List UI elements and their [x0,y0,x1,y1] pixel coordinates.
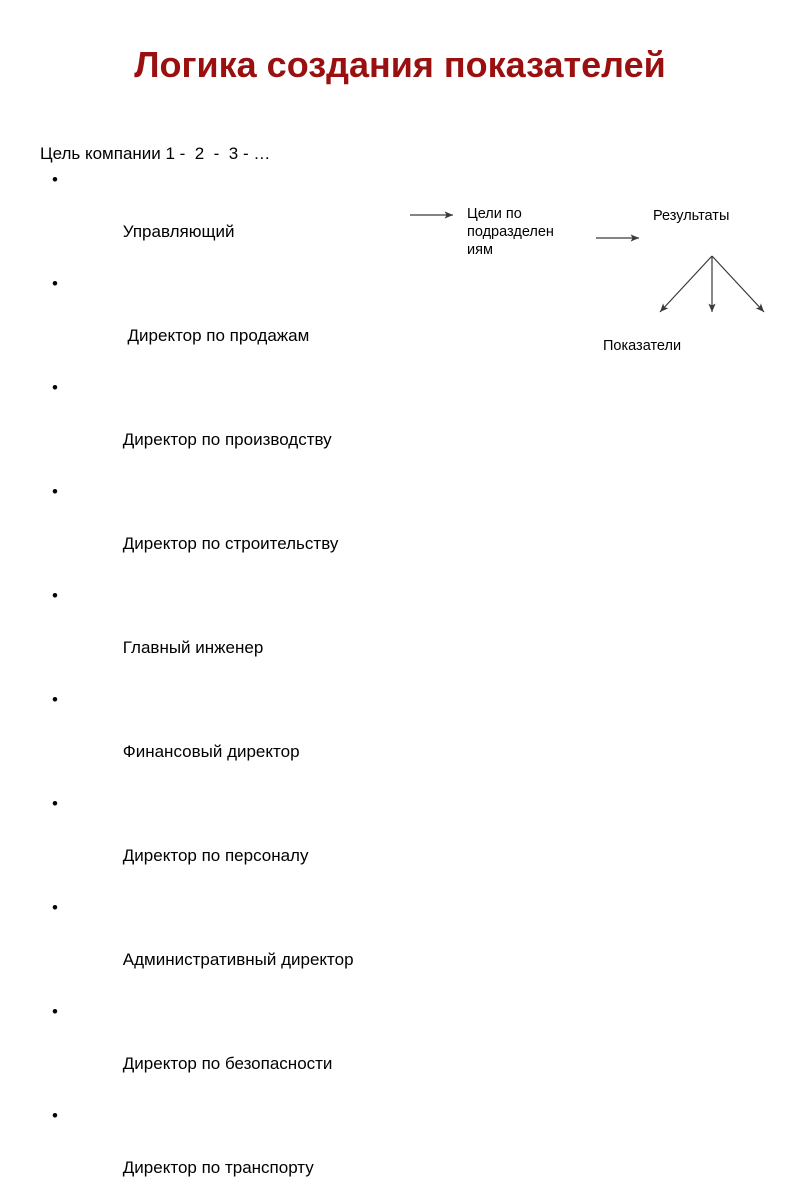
arrow-results-to-indicator-right-icon [712,256,764,312]
slide-canvas: Логика создания показателей Цель компани… [0,0,800,600]
bullet-icon: • [52,375,58,401]
list-item: • Финансовый директор [40,687,440,791]
list-item-label: Директор по безопасности [123,1054,333,1073]
bullet-icon: • [52,583,58,609]
list-item-label: Директор по производству [123,430,332,449]
list-item: • Директор по продажам [40,271,440,375]
org-roles-list: • Управляющий • Директор по продажам • Д… [40,167,440,1200]
list-item-label: Административный директор [123,950,354,969]
bullet-icon: • [52,271,58,297]
goal-block: Цель компании 1 - 2 - 3 - … • Управляющи… [40,141,440,1200]
bullet-icon: • [52,687,58,713]
list-item: • Директор по транспорту [40,1103,440,1200]
node-goals-by-division: Цели по подразделен иям [467,205,559,259]
bullet-icon: • [52,1103,58,1129]
arrow-results-to-indicator-left-icon [660,256,712,312]
list-item-label: Главный инженер [123,638,264,657]
bullet-icon: • [52,167,58,193]
node-indicators: Показатели [603,337,681,355]
flow-diagram: Цели по подразделен иям Результаты Показ… [395,185,795,380]
list-item-label: Директор по строительству [123,534,339,553]
list-item: • Директор по персоналу [40,791,440,895]
node-results: Результаты [653,207,729,225]
bullet-icon: • [52,895,58,921]
list-item: • Директор по строительству [40,479,440,583]
page-title: Логика создания показателей [0,44,800,86]
list-item-label: Управляющий [123,222,235,241]
list-item: • Директор по производству [40,375,440,479]
bullet-icon: • [52,791,58,817]
list-item: • Главный инженер [40,583,440,687]
diagram-arrows-svg [395,185,795,380]
list-item: • Административный директор [40,895,440,999]
bullet-icon: • [52,479,58,505]
list-item-label: Финансовый директор [123,742,300,761]
list-item-label: Директор по персоналу [123,846,309,865]
list-item-label: Директор по продажам [123,326,310,345]
list-item-label: Директор по транспорту [123,1158,314,1177]
list-item: • Управляющий [40,167,440,271]
company-goal-heading: Цель компании 1 - 2 - 3 - … [40,141,440,167]
bullet-icon: • [52,999,58,1025]
list-item: • Директор по безопасности [40,999,440,1103]
